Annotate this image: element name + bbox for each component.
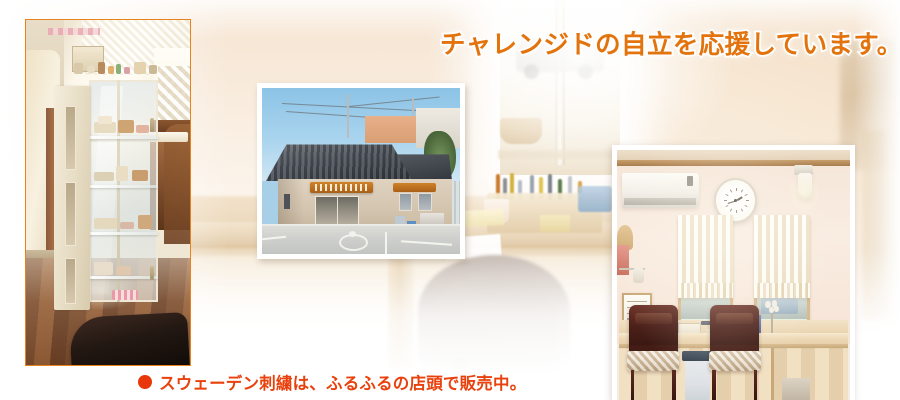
shop-photo-shop-sign bbox=[310, 182, 373, 194]
shop-photo-side-window bbox=[399, 193, 413, 211]
shop-photo-small-window bbox=[284, 194, 290, 209]
cabinet-photo-embroidered-cloth bbox=[71, 315, 191, 366]
background-yellow-box bbox=[540, 215, 570, 232]
shop-photo-wheelchair-marking bbox=[333, 232, 367, 249]
cabinet-photo-top-display-items bbox=[74, 56, 160, 74]
shop-photo-roof-tiles bbox=[266, 144, 413, 181]
cabinet-photo-shelf bbox=[89, 232, 158, 235]
room-photo-sunlight bbox=[617, 150, 850, 400]
background-tape-dispenser bbox=[578, 186, 612, 212]
cabinet-photo-wall-poster bbox=[48, 28, 100, 35]
cabinet-photo-panel-slit bbox=[65, 106, 76, 170]
shop-photo-parking-line bbox=[385, 232, 387, 254]
bullet-dot-icon bbox=[138, 375, 152, 389]
cabinet-photo-shelf bbox=[89, 276, 158, 279]
cabinet-photo-shelf bbox=[89, 136, 158, 139]
cabinet-photo-wooden-chair bbox=[164, 124, 191, 244]
cabinet-photo-shelf bbox=[89, 185, 158, 188]
photo-display-cabinet bbox=[25, 19, 191, 366]
shop-photo-secondary-sign bbox=[393, 183, 437, 192]
cloth-body bbox=[69, 312, 191, 366]
shop-photo-window-mullion bbox=[337, 196, 339, 228]
caption-label: スウェーデン刺繍は、ふるふるの店頭で販売中。 bbox=[159, 370, 526, 394]
shop-photo-utility-pole bbox=[347, 94, 349, 138]
photo-shop-exterior bbox=[257, 83, 465, 259]
promotional-banner: チャレンジドの自立を応援しています。 スウェーデン刺繍は、ふるふるの店頭で販売中… bbox=[0, 0, 900, 400]
cabinet-photo-panel-slit bbox=[65, 258, 76, 304]
cabinet-photo-panel-slit bbox=[65, 182, 76, 246]
room-photo-content bbox=[617, 150, 850, 400]
cabinet-photo-side-panel bbox=[54, 86, 90, 310]
shop-photo-content bbox=[262, 88, 460, 254]
shop-photo-wall-shadow bbox=[278, 179, 304, 229]
shop-photo-sign-lettering bbox=[315, 184, 368, 191]
background-paper bbox=[460, 209, 505, 227]
cabinet-photo-cabinet-body bbox=[54, 80, 158, 310]
cabinet-photo-door-latch bbox=[150, 266, 154, 280]
shop-photo-side-window bbox=[418, 193, 432, 211]
cabinet-photo-door-latch bbox=[150, 118, 154, 132]
caption: スウェーデン刺繍は、ふるふるの店頭で販売中。 bbox=[138, 370, 526, 394]
page-title: チャレンジドの自立を応援しています。 bbox=[440, 24, 900, 61]
photo-workshop-interior bbox=[612, 145, 855, 400]
